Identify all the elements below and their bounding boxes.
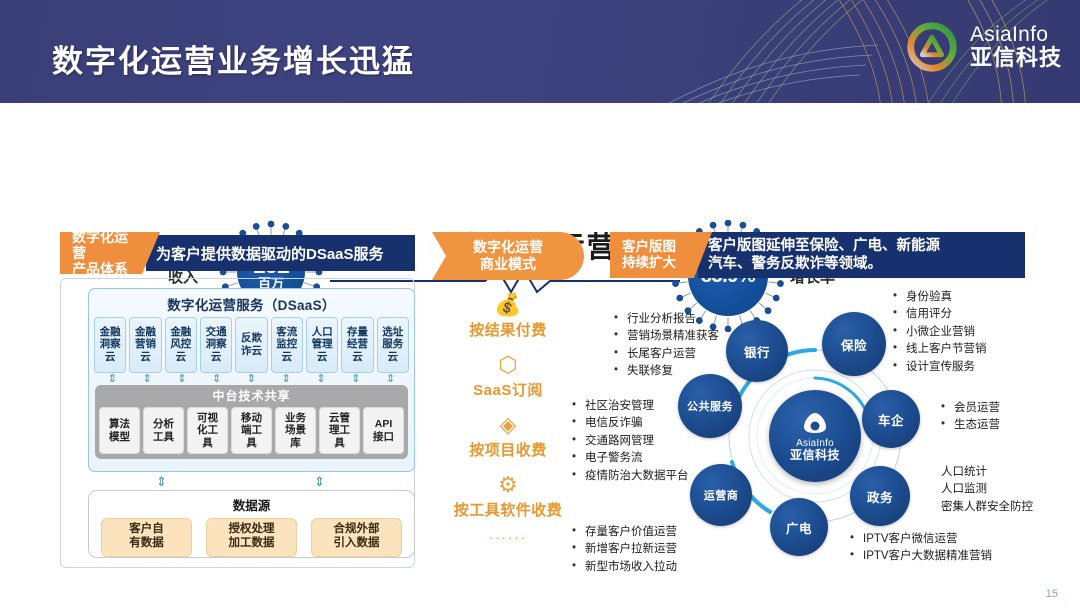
list-item: 电子警务流 — [572, 450, 689, 467]
bullets-public: 社区治安管理电信反诈骗交通路网管理电子警务流疫情防治大数据平台 — [572, 398, 689, 485]
ecosystem-node[interactable]: 银行 — [726, 320, 788, 382]
datasource-chip[interactable]: 授权处理加工数据 — [206, 518, 297, 557]
business-model-label: 按结果付费 — [432, 319, 584, 340]
arrow-updown-icon: ⇕ — [165, 373, 200, 385]
bullets-radio: IPTV客户微信运营IPTV客户大数据精准营销 — [850, 531, 992, 566]
datasource-title: 数据源 — [89, 491, 414, 514]
platform-chip[interactable]: 云管理工具 — [319, 407, 360, 454]
brand-logo: AsiaInfo 亚信科技 — [903, 18, 1062, 76]
cloud-service-chip[interactable]: 金融营销云 — [129, 317, 161, 373]
business-model-pill: 数字化运营 商业模式 — [432, 232, 584, 280]
mid-pill-line2: 商业模式 — [480, 256, 536, 273]
left-panel-tag: 数字化运营 产品体系 — [60, 232, 160, 274]
left-tag-line2: 产品体系 — [72, 261, 138, 277]
arrow-updown-icon: ⇕ — [130, 373, 165, 385]
business-model-item[interactable]: ⬡SaaS订阅 — [432, 354, 584, 400]
platform-box: 中台技术共享 算法模型分析工具可视化工具移动端工具业务场景库云管理工具API接口 — [95, 385, 408, 459]
right-tag-line1: 客户版图 — [622, 239, 690, 255]
gear-icon: ⚙ — [432, 474, 584, 496]
cloud-service-chip[interactable]: 反欺诈云 — [235, 317, 267, 373]
right-panel: 客户版图延伸至保险、广电、新能源 汽车、警务反欺诈等领域。 客户版图 持续扩大 — [610, 232, 1025, 278]
left-panel-headline: 为客户提供数据驱动的DSaaS服务 — [156, 243, 384, 264]
arrow-updown-icon: ⇕ — [269, 373, 304, 385]
bullets-bank: 行业分析报告营销场景精准获客长尾客户运营失联修复 — [614, 311, 719, 381]
list-item: 新增客户拉新运营 — [572, 541, 677, 558]
list-item: 电信反诈骗 — [572, 415, 689, 432]
ecosystem-node[interactable]: 广电 — [770, 498, 828, 556]
platform-chip[interactable]: 算法模型 — [99, 407, 140, 454]
platform-chip[interactable]: 可视化工具 — [187, 407, 228, 454]
list-item: 交通路网管理 — [572, 433, 689, 450]
bullets-auto: 会员运营生态运营 — [941, 400, 1000, 435]
page-header: 数字化运营业务增长迅猛 AsiaInfo 亚信科技 — [0, 0, 1080, 103]
bullets-government: 人口统计人口监测密集人群安全防控 — [941, 464, 1033, 516]
business-model-label: 按项目收费 — [432, 439, 584, 460]
business-model-ellipsis: ······ — [432, 530, 584, 545]
datasource-chip[interactable]: 合规外部引入数据 — [311, 518, 402, 557]
kpi-strip: 收入 152 百万 数字化运营 83.9% 增长率 — [0, 103, 1080, 223]
right-panel-headline-bar: 客户版图延伸至保险、广电、新能源 汽车、警务反欺诈等领域。 — [698, 232, 1025, 278]
ecosystem-node[interactable]: 政务 — [850, 466, 910, 526]
cloud-service-chip[interactable]: 客流监控云 — [271, 317, 303, 373]
ecosystem-node[interactable]: 车企 — [862, 390, 920, 448]
datasource-chip-row: 客户自有数据授权处理加工数据合规外部引入数据 — [89, 514, 414, 557]
list-item: 设计宣传服务 — [893, 359, 987, 376]
business-model-label: 按工具软件收费 — [432, 499, 584, 520]
list-item: 生态运营 — [941, 417, 1000, 434]
list-item: IPTV客户大数据精准营销 — [850, 548, 992, 565]
list-item: 密集人群安全防控 — [941, 499, 1033, 516]
platform-chip[interactable]: API接口 — [363, 407, 404, 454]
cloud-service-chip[interactable]: 人口管理云 — [306, 317, 338, 373]
platform-chip[interactable]: 移动端工具 — [231, 407, 272, 454]
list-item: 线上客户节营销 — [893, 341, 987, 358]
list-item: 身份验真 — [893, 289, 987, 306]
right-headline-line2: 汽车、警务反欺诈等领域。 — [708, 255, 940, 273]
list-item: 信用评分 — [893, 306, 987, 323]
list-item: 会员运营 — [941, 400, 1000, 417]
left-panel-headline-bar: 为客户提供数据驱动的DSaaS服务 — [146, 235, 415, 271]
arrow-updown-icon: ⇕ — [199, 373, 234, 385]
cloud-service-chip[interactable]: 存量经营云 — [341, 317, 373, 373]
cloud-service-chip[interactable]: 交通洞察云 — [200, 317, 232, 373]
money-bag-icon: 💰 — [432, 294, 584, 316]
list-item: 人口统计 — [941, 464, 1033, 481]
datasource-box: 数据源 客户自有数据授权处理加工数据合规外部引入数据 — [88, 490, 415, 558]
arrow-updown-icon: ⇕ — [373, 373, 408, 385]
platform-chip[interactable]: 业务场景库 — [275, 407, 316, 454]
left-panel-ribbon: 为客户提供数据驱动的DSaaS服务 数字化运营 产品体系 — [60, 232, 415, 274]
bullets-operator: 存量客户价值运营新增客户拉新运营新型市场收入拉动 — [572, 524, 677, 576]
asiainfo-mark-icon — [800, 410, 830, 436]
logo-text-en: AsiaInfo — [970, 24, 1062, 46]
list-item: 疫情防治大数据平台 — [572, 468, 689, 485]
arrow-updown-icon: ⇕ — [95, 373, 130, 385]
list-item: 营销场景精准获客 — [614, 328, 719, 345]
business-model-column: 数字化运营 商业模式 💰按结果付费⬡SaaS订阅◈按项目收费⚙按工具软件收费 ·… — [432, 232, 584, 545]
datasource-arrows: ⇕ ⇕ — [88, 474, 415, 490]
arrow-updown-icon: ⇕ — [234, 373, 269, 385]
logo-text-cn: 亚信科技 — [970, 46, 1062, 69]
business-model-list: 💰按结果付费⬡SaaS订阅◈按项目收费⚙按工具软件收费 — [432, 294, 584, 520]
arrow-updown-icon: ⇕ — [304, 373, 339, 385]
ecosystem-node[interactable]: 保险 — [822, 312, 886, 376]
list-item: IPTV客户微信运营 — [850, 531, 992, 548]
dsaas-title: 数字化运营服务（DSaaS） — [89, 289, 414, 314]
business-model-label: SaaS订阅 — [432, 379, 584, 400]
cloud-service-chip-row: 金融洞察云金融营销云金融风控云交通洞察云反欺诈云客流监控云人口管理云存量经营云选… — [89, 314, 414, 373]
platform-title: 中台技术共享 — [99, 387, 404, 404]
list-item: 人口监测 — [941, 481, 1033, 498]
mid-pill-line1: 数字化运营 — [473, 239, 543, 256]
center-label-cn: 亚信科技 — [790, 449, 840, 462]
business-model-item[interactable]: ◈按项目收费 — [432, 414, 584, 460]
list-item: 小微企业营销 — [893, 324, 987, 341]
list-item: 存量客户价值运营 — [572, 524, 677, 541]
right-headline-line1: 客户版图延伸至保险、广电、新能源 — [708, 237, 940, 255]
business-model-item[interactable]: 💰按结果付费 — [432, 294, 584, 340]
list-item: 长尾客户运营 — [614, 346, 719, 363]
arrow-updown-icon: ⇕ — [338, 373, 373, 385]
bullets-insurance: 身份验真信用评分小微企业营销线上客户节营销设计宣传服务 — [893, 289, 987, 376]
list-item: 失联修复 — [614, 363, 719, 380]
list-item: 社区治安管理 — [572, 398, 689, 415]
ecosystem-node[interactable]: 运营商 — [690, 464, 752, 526]
dsaas-box: 数字化运营服务（DSaaS） 金融洞察云金融营销云金融风控云交通洞察云反欺诈云客… — [88, 288, 415, 472]
right-tag-line2: 持续扩大 — [622, 255, 690, 271]
cloud-service-chip[interactable]: 选址服务云 — [377, 317, 409, 373]
left-panel: 为客户提供数据驱动的DSaaS服务 数字化运营 产品体系 — [60, 232, 415, 274]
datasource-chip[interactable]: 客户自有数据 — [101, 518, 192, 557]
platform-chip[interactable]: 分析工具 — [143, 407, 184, 454]
cloud-service-chip[interactable]: 金融风控云 — [165, 317, 197, 373]
list-item: 行业分析报告 — [614, 311, 719, 328]
ecosystem-center: AsiaInfo 亚信科技 — [769, 390, 861, 482]
right-panel-ribbon: 客户版图延伸至保险、广电、新能源 汽车、警务反欺诈等领域。 客户版图 持续扩大 — [610, 232, 1025, 278]
saas-nodes-icon: ⬡ — [432, 354, 584, 376]
list-item: 新型市场收入拉动 — [572, 559, 677, 576]
asiainfo-ring-logo-icon — [903, 18, 961, 76]
page-title: 数字化运营业务增长迅猛 — [52, 36, 415, 81]
arrow-up-icon: ⇕ — [156, 474, 167, 490]
arrow-up-icon: ⇕ — [314, 474, 325, 490]
left-tag-line1: 数字化运营 — [72, 229, 138, 261]
business-model-item[interactable]: ⚙按工具软件收费 — [432, 474, 584, 520]
page-number: 15 — [1046, 588, 1058, 600]
platform-chip-row: 算法模型分析工具可视化工具移动端工具业务场景库云管理工具API接口 — [99, 407, 404, 454]
cloud-service-chip[interactable]: 金融洞察云 — [94, 317, 126, 373]
cloud-arrows-row: ⇕⇕⇕⇕⇕⇕⇕⇕⇕ — [89, 373, 414, 385]
right-panel-tag: 客户版图 持续扩大 — [610, 232, 712, 278]
layers-icon: ◈ — [432, 414, 584, 436]
